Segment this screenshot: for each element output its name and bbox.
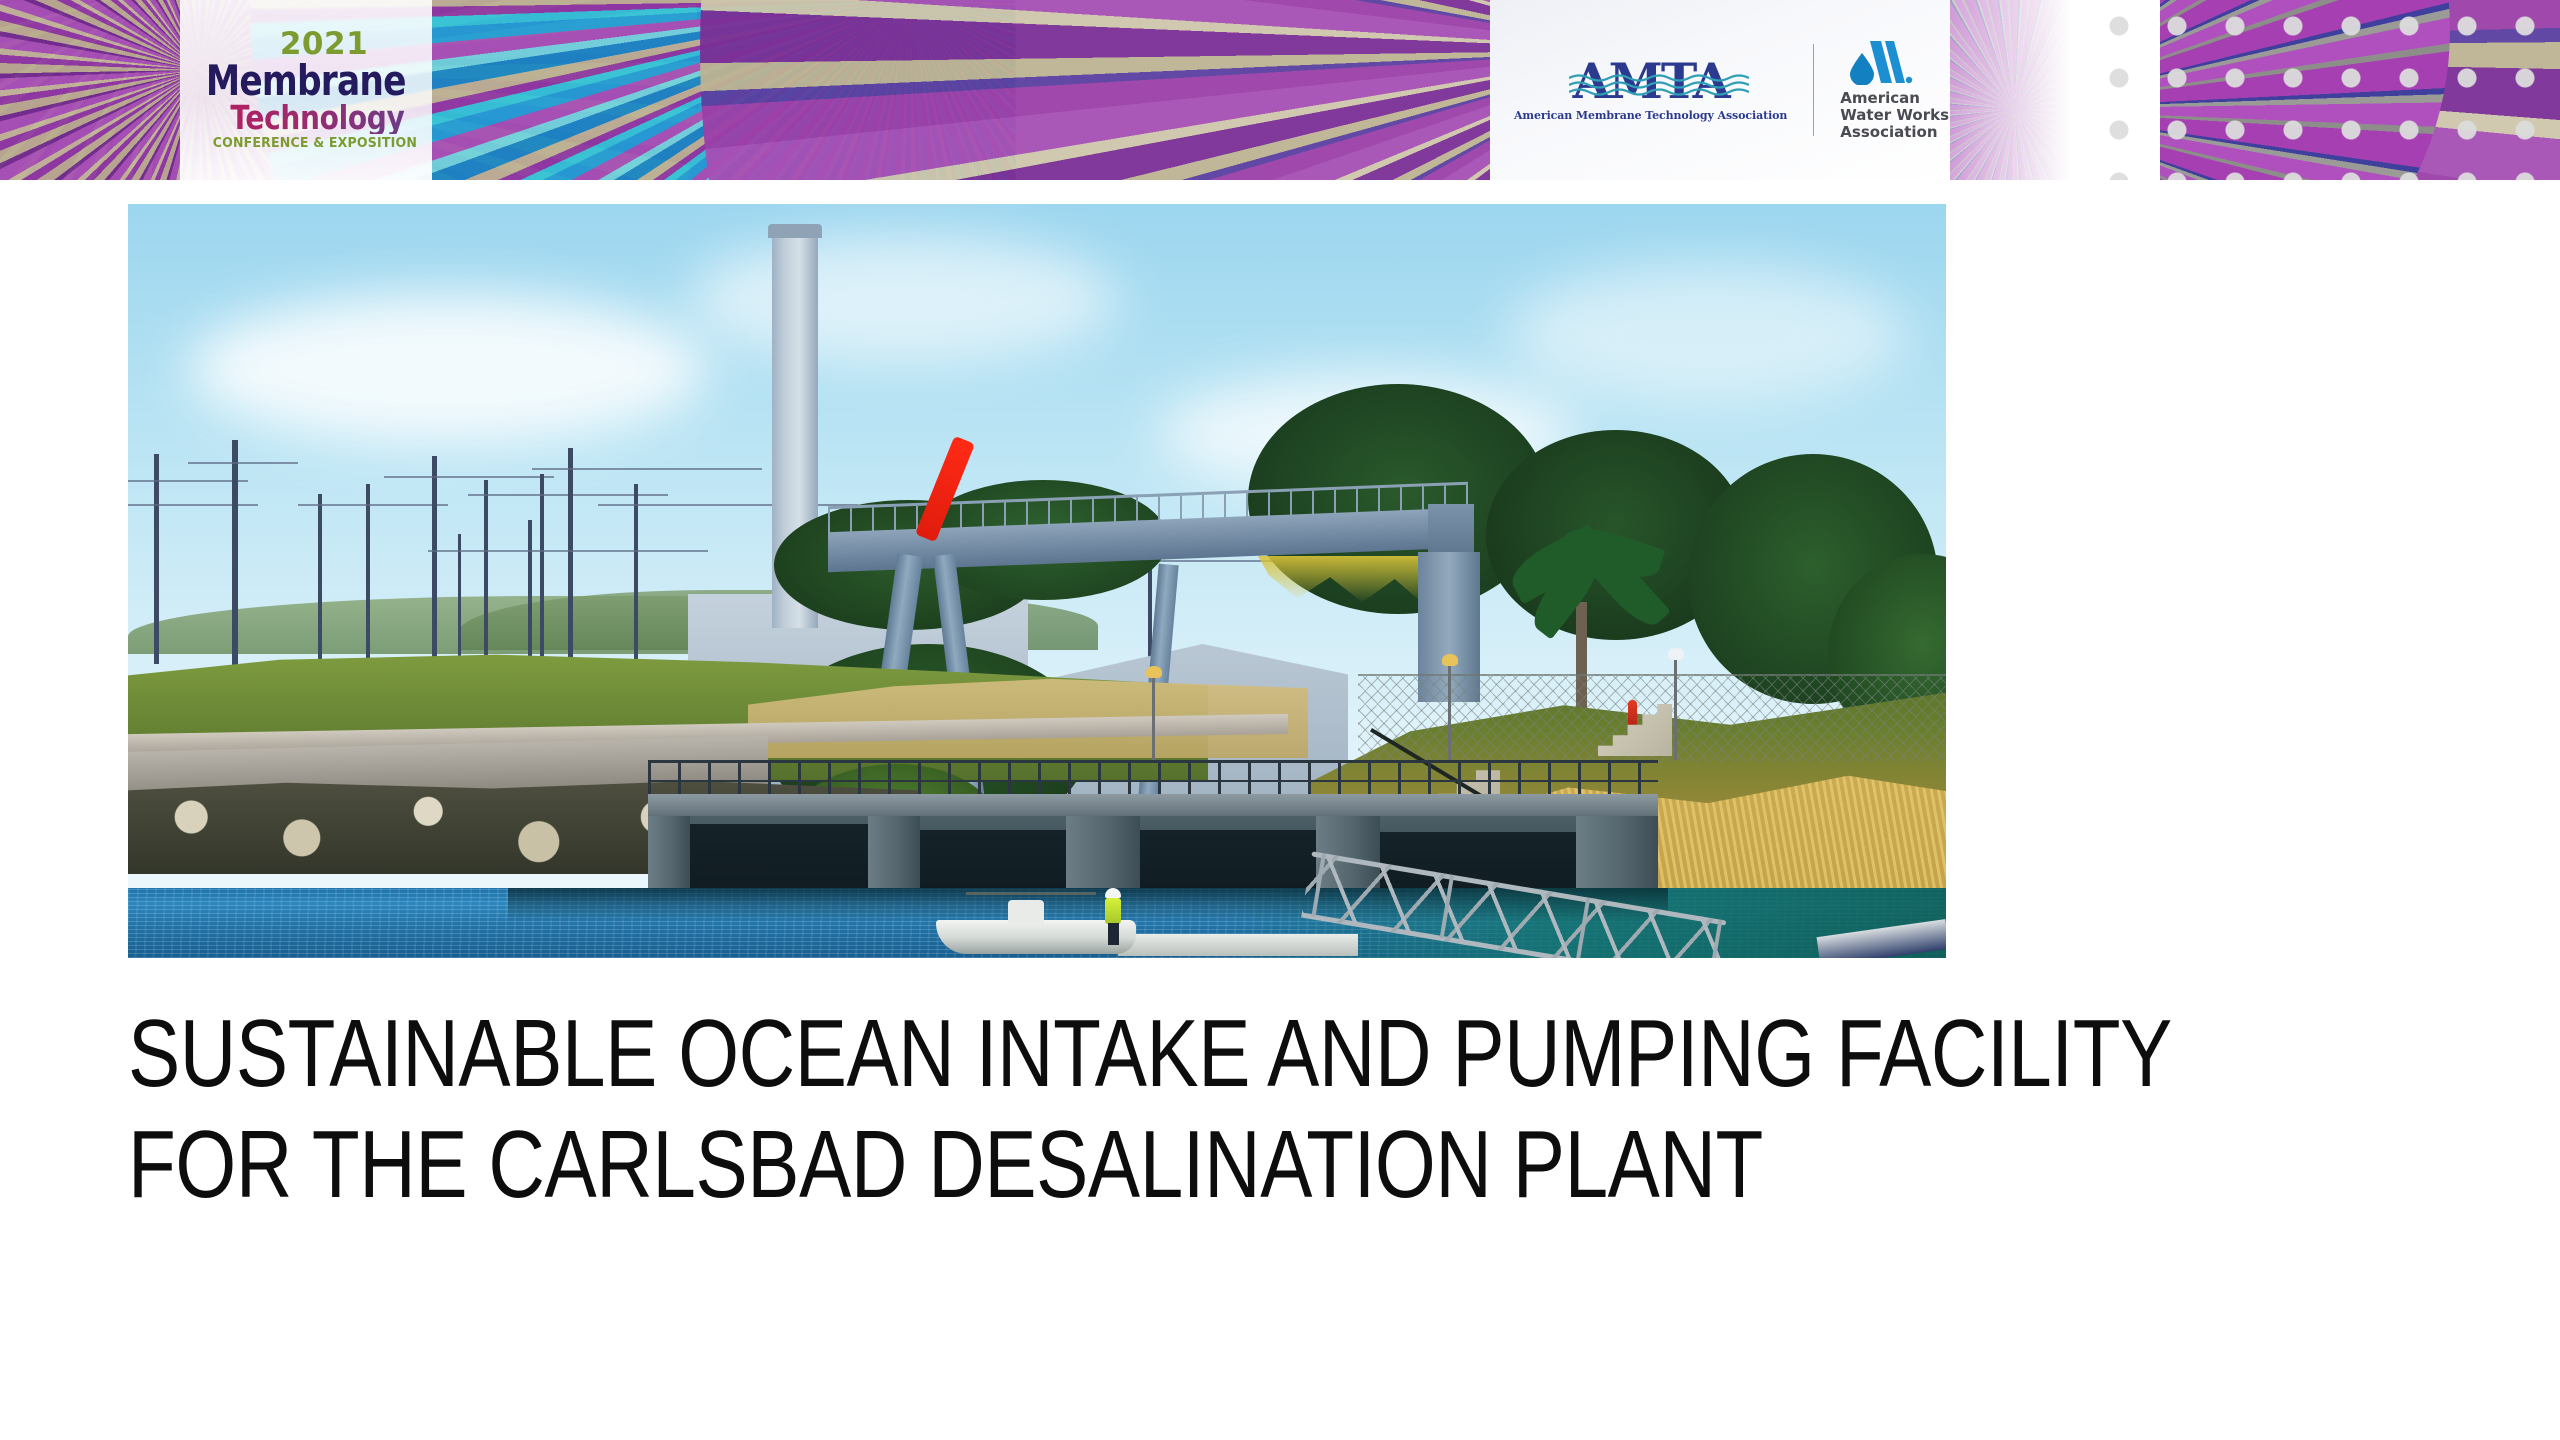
header-dot-grid (2090, 0, 2560, 180)
power-line (384, 476, 554, 478)
awwa-name: American Water Works Association (1840, 90, 1950, 140)
boat-rail (966, 892, 1096, 895)
association-logos-plate: AMTA American Membrane Technology Associ… (1490, 0, 1950, 180)
logo-tagline: CONFERENCE & EXPOSITION (213, 137, 417, 151)
transmission-tower (484, 480, 488, 668)
amta-full-name: American Membrane Technology Association (1514, 109, 1787, 122)
logo-divider (1813, 44, 1814, 136)
power-line (532, 468, 762, 470)
lamp-head (1442, 654, 1458, 666)
amta-acronym: AMTA (1573, 52, 1729, 110)
logo-word-technology: Technology (230, 101, 404, 134)
power-line (598, 504, 858, 506)
power-line (128, 504, 258, 506)
lamp-head (1668, 648, 1684, 660)
intake-deck (648, 794, 1658, 818)
fire-hydrant (1628, 700, 1637, 728)
cloud (1508, 264, 1908, 404)
cloud (188, 294, 708, 444)
awwa-water-drop-icon (1840, 39, 1914, 85)
boat-console (1008, 900, 1044, 926)
smokestack-cap (768, 224, 822, 238)
lamp-post (1448, 662, 1451, 762)
power-line (428, 550, 708, 552)
power-line (188, 462, 298, 464)
logo-word-membrane: Membrane (206, 61, 406, 101)
transmission-tower (528, 520, 532, 670)
transmission-tower (634, 484, 638, 670)
membrane-technology-logo: 2021 Membrane Technology CONFERENCE & EX… (180, 0, 432, 180)
transmission-tower (366, 484, 370, 670)
transmission-tower (568, 448, 573, 668)
cloud (688, 234, 1118, 364)
transmission-tower (232, 440, 238, 668)
amta-logo: AMTA American Membrane Technology Associ… (1514, 57, 1787, 122)
worker-legs (1108, 923, 1119, 945)
worker-hard-hat (1105, 888, 1121, 898)
slide-title: SUSTAINABLE OCEAN INTAKE AND PUMPING FAC… (128, 998, 2428, 1221)
title-line-2: FOR THE CARLSBAD DESALINATION PLANT (128, 1109, 2003, 1220)
transmission-tower (154, 454, 159, 664)
conference-header-band: 2021 Membrane Technology CONFERENCE & EX… (0, 0, 2560, 180)
transmission-tower (458, 534, 461, 670)
transmission-tower (540, 474, 544, 670)
power-line (128, 480, 248, 482)
lamp-post (1152, 674, 1155, 760)
title-line-1: SUSTAINABLE OCEAN INTAKE AND PUMPING FAC… (128, 998, 2003, 1109)
power-line (298, 504, 448, 506)
lamp-post (1674, 656, 1677, 760)
intake-facility-photo (128, 204, 1946, 958)
lamp-head (1146, 666, 1162, 678)
transmission-tower (432, 456, 437, 668)
worker-hi-vis-vest (1105, 898, 1121, 924)
transmission-tower (318, 494, 322, 670)
awwa-logo: American Water Works Association (1840, 39, 1950, 140)
